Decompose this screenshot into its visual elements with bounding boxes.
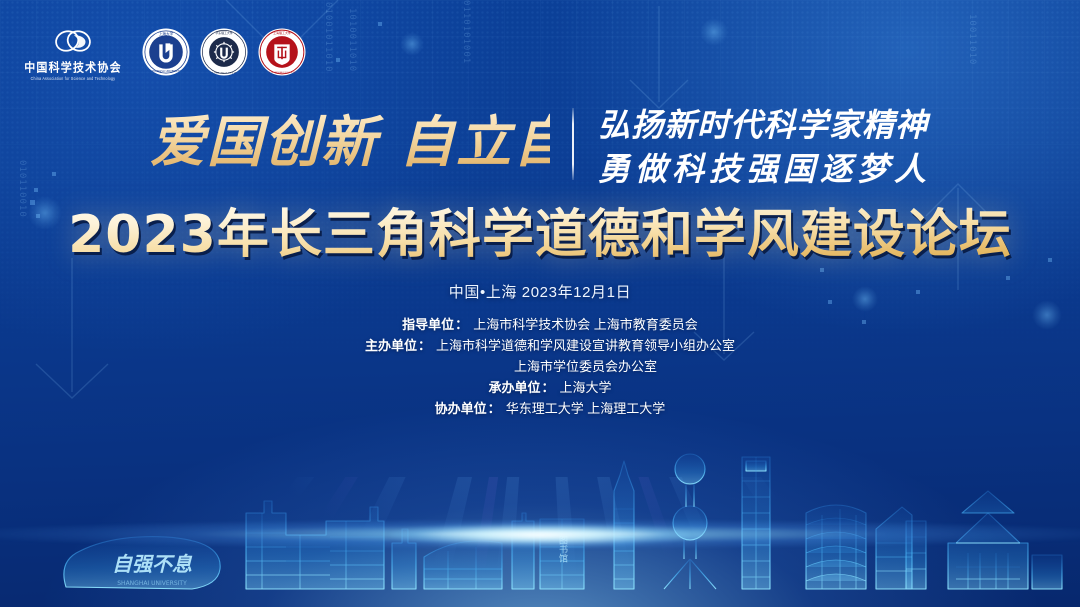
slogan-left-text: 爱国创新 自立自强 [150,110,550,174]
credit-label: 指导单位 [382,316,454,333]
cast-emblem-icon [48,24,98,58]
skyline-illustration: 自强不息 SHANGHAI UNIVERSITY 图书馆 [0,417,1080,607]
page-title-text: 2023年长三角科学道德和学风建设论坛 [68,192,1012,267]
horizon-core-glow [390,523,690,547]
svg-text:华东理工大学: 华东理工大学 [215,30,232,35]
logo-shanghai-university: 上海大学 SHANGHAI UNIVERSITY [142,28,190,76]
logo-university-of-shanghai-for-science-and-technology: 上海理工大学 UNIV. OF SHANGHAI FOR SCI. & TECH… [258,28,306,76]
credit-value: 上海市学位委员会办公室 [511,358,657,375]
credit-row-organizer: 承办单位 ： 上海大学 [468,379,611,396]
credit-label: 承办单位 [468,379,540,396]
credit-colon: ： [454,316,470,333]
glow-dot [700,18,728,46]
slogan-right-calligraphy: 弘扬新时代科学家精神 勇做科技强国逐梦人 [596,98,942,190]
slogan-right-line-2: 勇做科技强国逐梦人 [598,150,931,188]
light-rays [0,477,1080,589]
ecust-seal-icon: 华东理工大学 EAST CHINA UNIV. OF SCI. & TECH. [200,28,248,76]
credit-row-host: 主办单位 ： 上海市科学道德和学风建设宣讲教育领导小组办公室 [345,337,735,354]
horizon-glow [0,519,1080,549]
credit-label: 主办单位 [345,337,417,354]
slogan-left-calligraphy: 爱国创新 自立自强 [150,110,550,176]
date-location-line: 中国•上海 2023年12月1日 [0,281,1080,302]
slogan-right: 弘扬新时代科学家精神 勇做科技强国逐梦人 [596,98,942,190]
horizon-arc [0,477,1080,561]
pixel-decor [52,172,56,176]
binary-decor: 10011010 [966,14,977,94]
slogan-left: 爱国创新 自立自强 [150,110,550,176]
memorial-stone-text: 自强不息 [112,552,193,576]
glow-dot [400,32,424,56]
svg-text:上海大学: 上海大学 [159,31,174,36]
organizer-credits: 指导单位 ： 上海市科学技术协会 上海市教育委员会 主办单位 ： 上海市科学道德… [0,316,1080,417]
credit-colon: ： [487,400,503,417]
credit-row-co-organizer: 协办单位 ： 华东理工大学 上海理工大学 [415,400,666,417]
pixel-decor [820,268,824,272]
shanghai-university-seal-icon: 上海大学 SHANGHAI UNIVERSITY [142,28,190,76]
credit-colon: ： [417,337,433,354]
logo-cast-cn-name: 中国科学技术协会 [24,58,122,75]
conference-poster: 01001011010 1010011010 0110101001 010110… [0,0,1080,607]
city-skyline: 自强不息 SHANGHAI UNIVERSITY 图书馆 [0,417,1080,607]
credit-value: 上海大学 [557,379,612,396]
slogan-right-line-1: 弘扬新时代科学家精神 [598,106,931,144]
logo-east-china-university-of-science-and-technology: 华东理工大学 EAST CHINA UNIV. OF SCI. & TECH. [200,28,248,76]
credit-value: 上海市科学道德和学风建设宣讲教育领导小组办公室 [433,337,735,354]
credit-value: 上海市科学技术协会 上海市教育委员会 [470,316,698,333]
credit-row-guidance: 指导单位 ： 上海市科学技术协会 上海市教育委员会 [382,316,698,333]
credit-row-host-continued: 主办单位 ： 上海市学位委员会办公室 [423,358,657,375]
pixel-decor [378,22,382,26]
library-banner-text: 图书馆 [557,535,568,563]
pixel-decor [1006,276,1010,280]
binary-decor: 0110101001 [460,0,471,92]
logo-china-association-for-science-and-technology: 中国科学技术协会 China Association for Science a… [14,13,132,91]
logo-cast-en-name: China Association for Science and Techno… [31,76,116,81]
slogan-divider [572,108,574,180]
memorial-stone-subtext: SHANGHAI UNIVERSITY [117,580,187,587]
usst-seal-icon: 上海理工大学 UNIV. OF SHANGHAI FOR SCI. & TECH… [258,28,306,76]
credit-value: 华东理工大学 上海理工大学 [503,400,666,417]
binary-decor: 1010011010 [346,8,357,112]
logo-row: 中国科学技术协会 China Association for Science a… [0,6,320,98]
svg-text:SHANGHAI UNIVERSITY: SHANGHAI UNIVERSITY [152,69,181,73]
page-title: 2023年长三角科学道德和学风建设论坛 [0,192,1080,267]
svg-text:上海理工大学: 上海理工大学 [273,30,291,35]
credit-label: 协办单位 [415,400,487,417]
ground-light-burst [0,477,1080,607]
credit-colon: ： [540,379,556,396]
